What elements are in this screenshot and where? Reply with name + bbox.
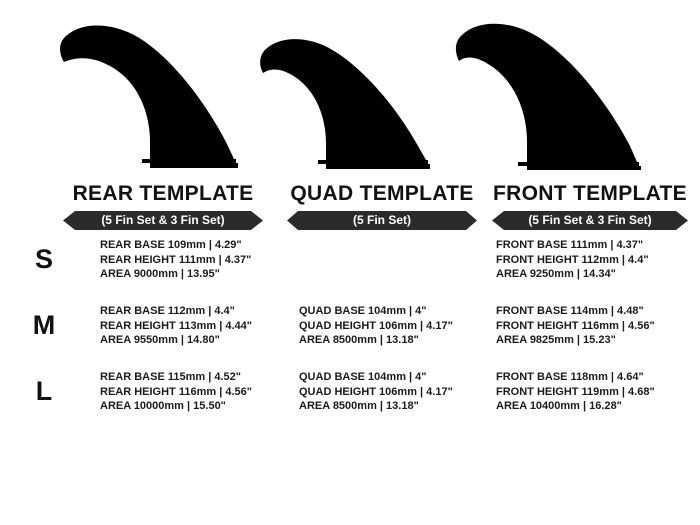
template-title-front: FRONT TEMPLATE xyxy=(492,183,688,204)
template-title-quad: QUAD TEMPLATE xyxy=(287,183,477,204)
size-label-m: M xyxy=(24,312,64,339)
spec-cell-quad-l: QUAD BASE 104mm | 4" QUAD HEIGHT 106mm |… xyxy=(299,370,453,414)
spec-cell-front-m: FRONT BASE 114mm | 4.48" FRONT HEIGHT 11… xyxy=(496,304,655,348)
size-label-l: L xyxy=(24,378,64,405)
spec-area: AREA 10400mm | 16.28" xyxy=(496,399,655,414)
template-header-front: FRONT TEMPLATE (5 Fin Set & 3 Fin Set) xyxy=(492,183,688,230)
template-banner-label-rear: (5 Fin Set & 3 Fin Set) xyxy=(63,211,263,230)
template-header-rear: REAR TEMPLATE (5 Fin Set & 3 Fin Set) xyxy=(63,183,263,230)
spec-base: REAR BASE 115mm | 4.52" xyxy=(100,370,252,385)
template-banner-rear: (5 Fin Set & 3 Fin Set) xyxy=(63,211,263,230)
spec-height: FRONT HEIGHT 119mm | 4.68" xyxy=(496,385,655,400)
table-row: L REAR BASE 115mm | 4.52" REAR HEIGHT 11… xyxy=(0,370,700,436)
spec-area: AREA 9000mm | 13.95" xyxy=(100,267,251,282)
spec-cell-quad-m: QUAD BASE 104mm | 4" QUAD HEIGHT 106mm |… xyxy=(299,304,453,348)
template-banner-label-quad: (5 Fin Set) xyxy=(287,211,477,230)
spec-cell-rear-s: REAR BASE 109mm | 4.29" REAR HEIGHT 111m… xyxy=(100,238,251,282)
spec-cell-front-l: FRONT BASE 118mm | 4.64" FRONT HEIGHT 11… xyxy=(496,370,655,414)
size-label-s: S xyxy=(24,246,64,273)
spec-cell-rear-l: REAR BASE 115mm | 4.52" REAR HEIGHT 116m… xyxy=(100,370,252,414)
spec-base: FRONT BASE 118mm | 4.64" xyxy=(496,370,655,385)
spec-cell-rear-m: REAR BASE 112mm | 4.4" REAR HEIGHT 113mm… xyxy=(100,304,252,348)
spec-area: AREA 9825mm | 15.23" xyxy=(496,333,655,348)
template-banner-label-front: (5 Fin Set & 3 Fin Set) xyxy=(492,211,688,230)
quad-fin-illustration xyxy=(258,36,444,174)
spec-area: AREA 8500mm | 13.18" xyxy=(299,333,453,348)
table-row: M REAR BASE 112mm | 4.4" REAR HEIGHT 113… xyxy=(0,304,700,370)
template-header-quad: QUAD TEMPLATE (5 Fin Set) xyxy=(287,183,477,230)
spec-area: AREA 8500mm | 13.18" xyxy=(299,399,453,414)
template-title-rear: REAR TEMPLATE xyxy=(63,183,263,204)
spec-area: AREA 10000mm | 15.50" xyxy=(100,399,252,414)
spec-height: REAR HEIGHT 116mm | 4.56" xyxy=(100,385,252,400)
fin-illustration-row xyxy=(0,0,700,180)
spec-area: AREA 9550mm | 14.80" xyxy=(100,333,252,348)
spec-base: FRONT BASE 114mm | 4.48" xyxy=(496,304,655,319)
spec-base: QUAD BASE 104mm | 4" xyxy=(299,304,453,319)
spec-height: QUAD HEIGHT 106mm | 4.17" xyxy=(299,385,453,400)
rear-fin-illustration xyxy=(58,22,250,174)
spec-height: FRONT HEIGHT 116mm | 4.56" xyxy=(496,319,655,334)
spec-base: REAR BASE 112mm | 4.4" xyxy=(100,304,252,319)
spec-height: QUAD HEIGHT 106mm | 4.17" xyxy=(299,319,453,334)
template-banner-front: (5 Fin Set & 3 Fin Set) xyxy=(492,211,688,230)
spec-base: FRONT BASE 111mm | 4.37" xyxy=(496,238,649,253)
spec-base: QUAD BASE 104mm | 4" xyxy=(299,370,453,385)
fin-spec-table: S REAR BASE 109mm | 4.29" REAR HEIGHT 11… xyxy=(0,238,700,436)
template-banner-quad: (5 Fin Set) xyxy=(287,211,477,230)
spec-height: FRONT HEIGHT 112mm | 4.4" xyxy=(496,253,649,268)
spec-base: REAR BASE 109mm | 4.29" xyxy=(100,238,251,253)
front-fin-illustration xyxy=(454,20,650,174)
table-row: S REAR BASE 109mm | 4.29" REAR HEIGHT 11… xyxy=(0,238,700,304)
spec-area: AREA 9250mm | 14.34" xyxy=(496,267,649,282)
spec-cell-front-s: FRONT BASE 111mm | 4.37" FRONT HEIGHT 11… xyxy=(496,238,649,282)
spec-height: REAR HEIGHT 113mm | 4.44" xyxy=(100,319,252,334)
spec-height: REAR HEIGHT 111mm | 4.37" xyxy=(100,253,251,268)
